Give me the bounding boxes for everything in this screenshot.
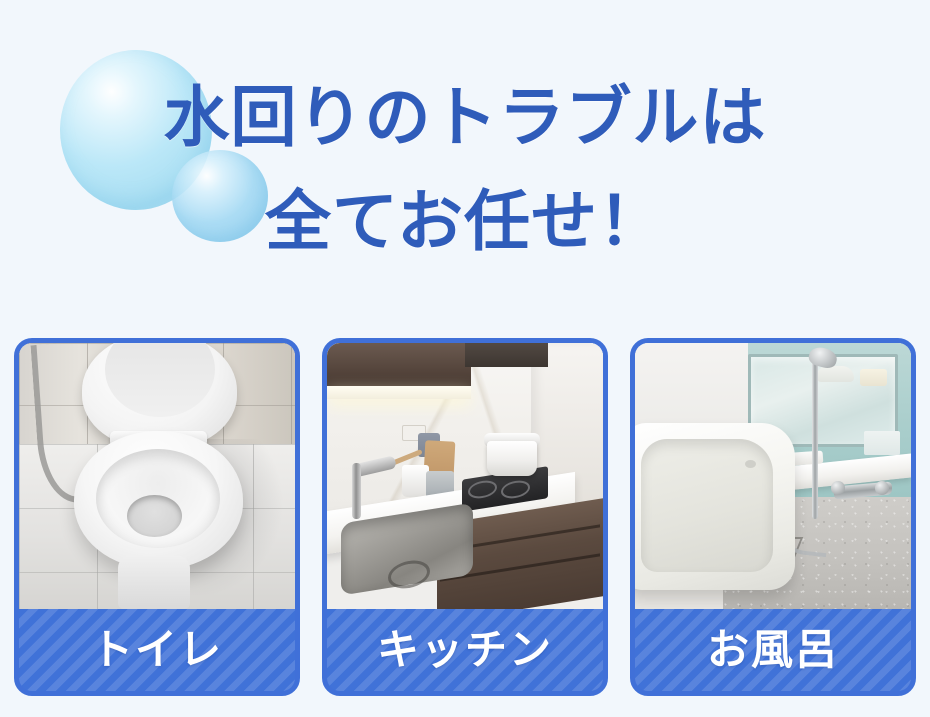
service-card-toilet[interactable]: トイレ [14,338,300,696]
service-card-label-text: キッチン [377,629,553,671]
service-card-list: トイレ [14,338,916,696]
service-card-kitchen[interactable]: キッチン [322,338,608,696]
kitchen-photo [327,343,603,609]
kitchen-upper-cabinet [327,343,471,388]
service-card-bath[interactable]: お風呂 [630,338,916,696]
toilet-photo [19,343,295,609]
service-card-label-toilet: トイレ [19,609,295,691]
page-title-line-1: 水回りのトラブルは [0,68,930,168]
bath-shower-rail [812,354,818,519]
bath-mirror-reflection-tub [817,366,854,382]
bath-mirror-reflection-panel [860,369,887,387]
service-card-label-text: お風呂 [707,629,839,671]
bath-bathtub-basin [641,439,773,572]
kitchen-cooking-pot [487,441,537,476]
toilet-photo-illustration [19,343,295,609]
kitchen-under-cabinet-light [327,386,471,399]
page-title: 水回りのトラブルは 全てお任せ！ [0,68,930,272]
bath-faucet-knob-left [831,481,845,494]
bath-faucet-knob-right [875,481,889,494]
service-card-label-kitchen: キッチン [327,609,603,691]
toilet-pedestal-base [118,556,190,609]
kitchen-range-hood [465,343,548,367]
bath-photo-illustration [635,343,911,609]
kitchen-faucet-body [352,463,361,519]
hero-section: 水回りのトラブルは 全てお任せ！ [0,0,930,320]
page-title-line-2: 全てお任せ！ [0,172,930,272]
bath-wall-plate [864,431,900,455]
kitchen-white-mug [402,465,430,497]
bath-photo [635,343,911,609]
service-card-label-bath: お風呂 [635,609,911,691]
kitchen-photo-illustration [327,343,603,609]
service-card-label-text: トイレ [91,629,223,671]
toilet-water-surface [127,495,182,538]
